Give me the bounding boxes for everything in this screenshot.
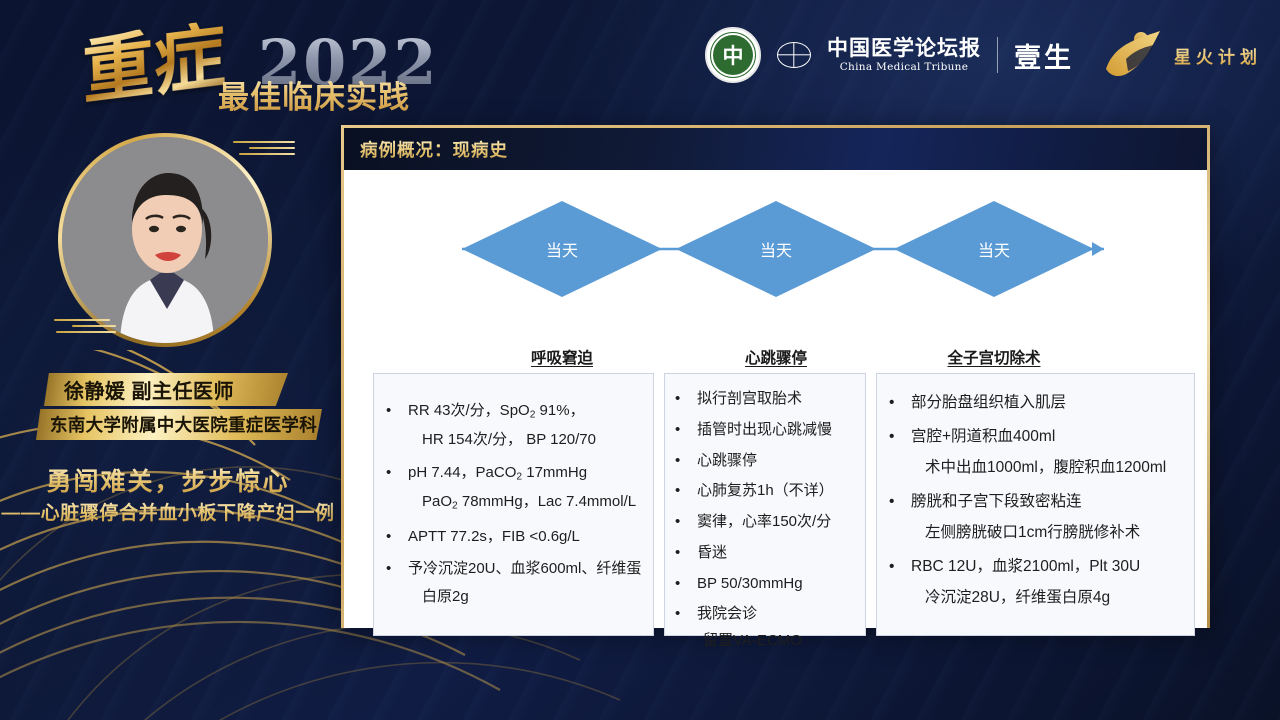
bullet-icon: • <box>675 480 680 502</box>
item-text: 窦律，心率150次/分 <box>697 511 857 533</box>
seal-ring <box>710 32 756 78</box>
item-text: 宫腔+阴道积血400ml <box>911 426 1184 448</box>
bullet-icon: • <box>889 392 894 414</box>
slide-body: 当天 当天 当天 呼吸窘迫 心跳骤停 全子宫切除术 • RR 43次/分，SpO… <box>344 170 1207 628</box>
item-continuation: 冷沉淀28U，纤维蛋白原4g <box>925 587 1184 609</box>
list-item: •宫腔+阴道积血400ml 术中出血1000ml，腹腔积血1200ml <box>889 426 1184 479</box>
speaker-portrait-icon <box>62 137 268 343</box>
slide-frame: 病例概况：现病史 当天 当天 当天 呼吸窘迫 心跳骤停 全子宫切除术 <box>341 125 1210 628</box>
list-item: •RBC 12U，血浆2100ml，Plt 30U 冷沉淀28U，纤维蛋白原4g <box>889 556 1184 609</box>
xinghuo-program-logo: 星火计划 <box>1104 29 1262 81</box>
bullet-icon: • <box>386 462 391 484</box>
yisheng-logo: 壹生 <box>1014 36 1074 75</box>
tribune-name-cn: 中国医学论坛报 <box>827 37 981 59</box>
list-item: • APTT 77.2s，FIB <0.6g/L <box>386 526 643 548</box>
list-item: •我院会诊 留置VA-ECMO <box>675 603 857 652</box>
timeline-node-2: 当天 <box>676 201 876 297</box>
speaker-affiliation-badge: 东南大学附属中大医院重症医学科 <box>36 409 322 440</box>
bullet-icon: • <box>889 426 894 448</box>
logo-bar: 中 中国医学论坛报 China Medical Tribune 壹生 星火计划 <box>705 22 1262 88</box>
timeline-label-1: 呼吸窘迫 <box>492 346 632 368</box>
timeline-badge-3: 当天 <box>978 242 1010 260</box>
list-item: •心肺复苏1h（不详） <box>675 480 857 502</box>
hospital-seal-logo: 中 <box>705 27 761 83</box>
bullet-icon: • <box>675 573 680 595</box>
item-text: 予冷沉淀20U、血浆600ml、纤维蛋 <box>408 558 643 580</box>
slide-title: 病例概况：现病史 <box>360 137 508 162</box>
china-medical-tribune-logo: 中国医学论坛报 China Medical Tribune <box>827 37 981 72</box>
speaker-name-badge: 徐静媛 副主任医师 <box>44 373 288 406</box>
cloud-decoration-top <box>233 137 295 159</box>
list-item: •部分胎盘组织植入肌层 <box>889 392 1184 414</box>
item-text-cont: 91%， <box>535 402 584 419</box>
item-continuation: 留置VA-ECMO <box>703 630 857 652</box>
tribune-name-en: China Medical Tribune <box>840 62 969 73</box>
content-list-1: • RR 43次/分，SpO2 91%， HR 154次/分， BP 120/7… <box>374 374 653 608</box>
list-item: •窦律，心率150次/分 <box>675 511 857 533</box>
avatar-photo <box>62 137 268 343</box>
item-text: RR 43次/分，SpO <box>408 402 530 419</box>
slide-title-bar: 病例概况：现病史 <box>344 128 1207 170</box>
timeline-node-1: 当天 <box>462 201 662 297</box>
bullet-icon: • <box>675 450 680 472</box>
item-text: 我院会诊 <box>697 603 857 625</box>
item-text: 昏迷 <box>697 542 857 564</box>
list-item: • RR 43次/分，SpO2 91%， HR 154次/分， BP 120/7… <box>386 400 643 451</box>
bullet-icon: • <box>675 603 680 625</box>
item-text: APTT 77.2s，FIB <0.6g/L <box>408 526 643 548</box>
bullet-icon: • <box>386 558 391 580</box>
bullet-icon: • <box>386 526 391 548</box>
item-text: 心肺复苏1h（不详） <box>697 480 857 502</box>
item-continuation: 术中出血1000ml，腹腔积血1200ml <box>925 457 1184 479</box>
talk-tagline: 勇闯难关，步步惊心 <box>0 462 336 498</box>
list-item: •拟行剖宫取胎术 <box>675 388 857 410</box>
list-item: •心跳骤停 <box>675 450 857 472</box>
item-text: RBC 12U，血浆2100ml，Plt 30U <box>911 556 1184 578</box>
cloud-decoration-bottom <box>54 315 116 337</box>
timeline-node-3: 当天 <box>894 201 1094 297</box>
content-box-2: •拟行剖宫取胎术 •插管时出现心跳减慢 •心跳骤停 •心肺复苏1h（不详） •窦… <box>664 373 866 636</box>
item-continuation: 左侧膀胱破口1cm行膀胱修补术 <box>925 522 1184 544</box>
list-item: • pH 7.44，PaCO2 17mmHg PaO2 78mmHg，Lac 7… <box>386 462 643 515</box>
list-item: • 予冷沉淀20U、血浆600ml、纤维蛋 白原2g <box>386 558 643 608</box>
content-box-3: •部分胎盘组织植入肌层 •宫腔+阴道积血400ml 术中出血1000ml，腹腔积… <box>876 373 1195 636</box>
timeline-diagram: 当天 当天 当天 <box>344 170 1213 370</box>
item-text: 心跳骤停 <box>697 450 857 472</box>
item-continuation-cont: 78mmHg，Lac 7.4mmol/L <box>458 493 636 510</box>
item-text: 插管时出现心跳减慢 <box>697 419 857 441</box>
talk-tagline-sub: ——心脏骤停合并血小板下降产妇一例 <box>0 498 336 525</box>
bullet-icon: • <box>386 400 391 422</box>
event-title-main: 重症 <box>81 19 226 109</box>
flying-figure-icon <box>1104 29 1166 81</box>
globe-icon <box>777 42 811 68</box>
item-text: 膀胱和子宫下段致密粘连 <box>911 491 1184 513</box>
timeline-badge-1: 当天 <box>546 242 578 260</box>
bullet-icon: • <box>889 491 894 513</box>
list-item: •插管时出现心跳减慢 <box>675 419 857 441</box>
speaker-affiliation-text: 东南大学附属中大医院重症医学科 <box>50 412 317 437</box>
bullet-icon: • <box>889 556 894 578</box>
bullet-icon: • <box>675 419 680 441</box>
speaker-name-text: 徐静媛 副主任医师 <box>64 375 234 404</box>
list-item: •昏迷 <box>675 542 857 564</box>
item-text: 部分胎盘组织植入肌层 <box>911 392 1184 414</box>
item-continuation: 白原2g <box>422 586 643 608</box>
content-list-3: •部分胎盘组织植入肌层 •宫腔+阴道积血400ml 术中出血1000ml，腹腔积… <box>877 374 1194 609</box>
bullet-icon: • <box>675 511 680 533</box>
bullet-icon: • <box>675 388 680 410</box>
content-list-2: •拟行剖宫取胎术 •插管时出现心跳减慢 •心跳骤停 •心肺复苏1h（不详） •窦… <box>665 374 865 652</box>
list-item: •膀胱和子宫下段致密粘连 左侧膀胱破口1cm行膀胱修补术 <box>889 491 1184 544</box>
item-text-cont: 17mmHg <box>522 464 587 481</box>
content-box-1: • RR 43次/分，SpO2 91%， HR 154次/分， BP 120/7… <box>373 373 654 636</box>
xinghuo-label: 星火计划 <box>1174 43 1262 68</box>
item-text: 拟行剖宫取胎术 <box>697 388 857 410</box>
item-continuation: HR 154次/分， BP 120/70 <box>422 429 643 451</box>
item-text: BP 50/30mmHg <box>697 573 857 595</box>
timeline-label-3: 全子宫切除术 <box>914 346 1074 368</box>
list-item: •BP 50/30mmHg <box>675 573 857 595</box>
bullet-icon: • <box>675 542 680 564</box>
item-text: pH 7.44，PaCO <box>408 464 516 481</box>
logo-divider <box>997 37 998 73</box>
event-title-sub: 最佳临床实践 <box>218 72 410 117</box>
timeline-badge-2: 当天 <box>760 242 792 260</box>
event-title: 2022 重症 最佳临床实践 <box>40 10 440 120</box>
item-continuation: PaO <box>422 493 452 510</box>
timeline-label-2: 心跳骤停 <box>706 346 846 368</box>
